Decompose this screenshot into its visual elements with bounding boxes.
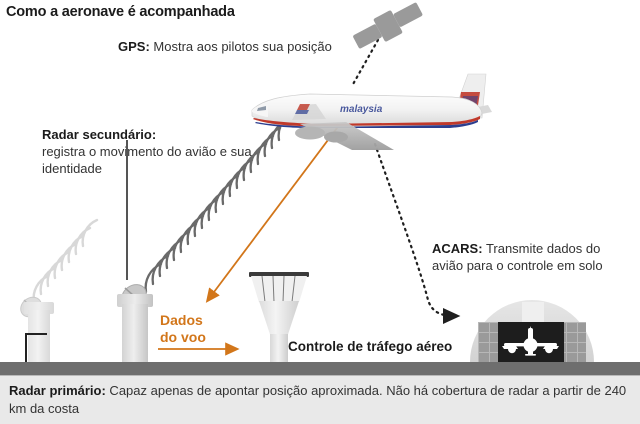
note-gps-label: GPS:: [118, 39, 150, 54]
note-acars-label: ACARS:: [432, 241, 483, 256]
primary-radar-leader-tick: [25, 333, 47, 335]
note-secondary-radar-text: registra o movimento do avião e sua iden…: [42, 144, 252, 176]
air-traffic-control-label: Controle de tráfego aéreo: [288, 339, 452, 354]
note-secondary-radar: Radar secundário: registra o movimento d…: [42, 126, 252, 177]
flight-data-label-line2: do voo: [160, 329, 206, 345]
caption-box: Radar primário: Capaz apenas de apontar …: [0, 375, 640, 424]
satellite-icon: [350, 0, 426, 54]
secondary-radar-leader-line: [126, 140, 128, 280]
note-acars: ACARS: Transmite dados do avião para o c…: [432, 240, 632, 274]
svg-text:malaysia: malaysia: [340, 104, 383, 115]
primary-radar-waves: [34, 220, 97, 302]
flight-data-label-line1: Dados: [160, 312, 203, 328]
caption-label: Radar primário:: [9, 383, 106, 398]
note-gps: GPS: Mostra aos pilotos sua posição: [118, 38, 348, 55]
infographic-canvas: Como a aeronave é acompanhada: [0, 0, 640, 424]
malaysia-airlines-aircraft: malaysia: [252, 74, 492, 150]
flight-data-label: Dados do voo: [160, 312, 206, 346]
acars-link: [375, 144, 456, 316]
caption-text: Radar primário: Capaz apenas de apontar …: [9, 382, 633, 418]
note-gps-text: Mostra aos pilotos sua posição: [150, 39, 332, 54]
satellite-link: [352, 40, 378, 86]
ground-strip: [0, 362, 640, 375]
note-secondary-radar-label: Radar secundário:: [42, 127, 156, 142]
page-title: Como a aeronave é acompanhada: [6, 4, 235, 20]
ground-control-hangar: [470, 300, 594, 362]
tower-flare: [259, 301, 299, 335]
parked-aircraft-silhouette: [498, 324, 564, 360]
tower-cab-glass: [251, 276, 307, 302]
tower-shaft: [270, 334, 288, 364]
